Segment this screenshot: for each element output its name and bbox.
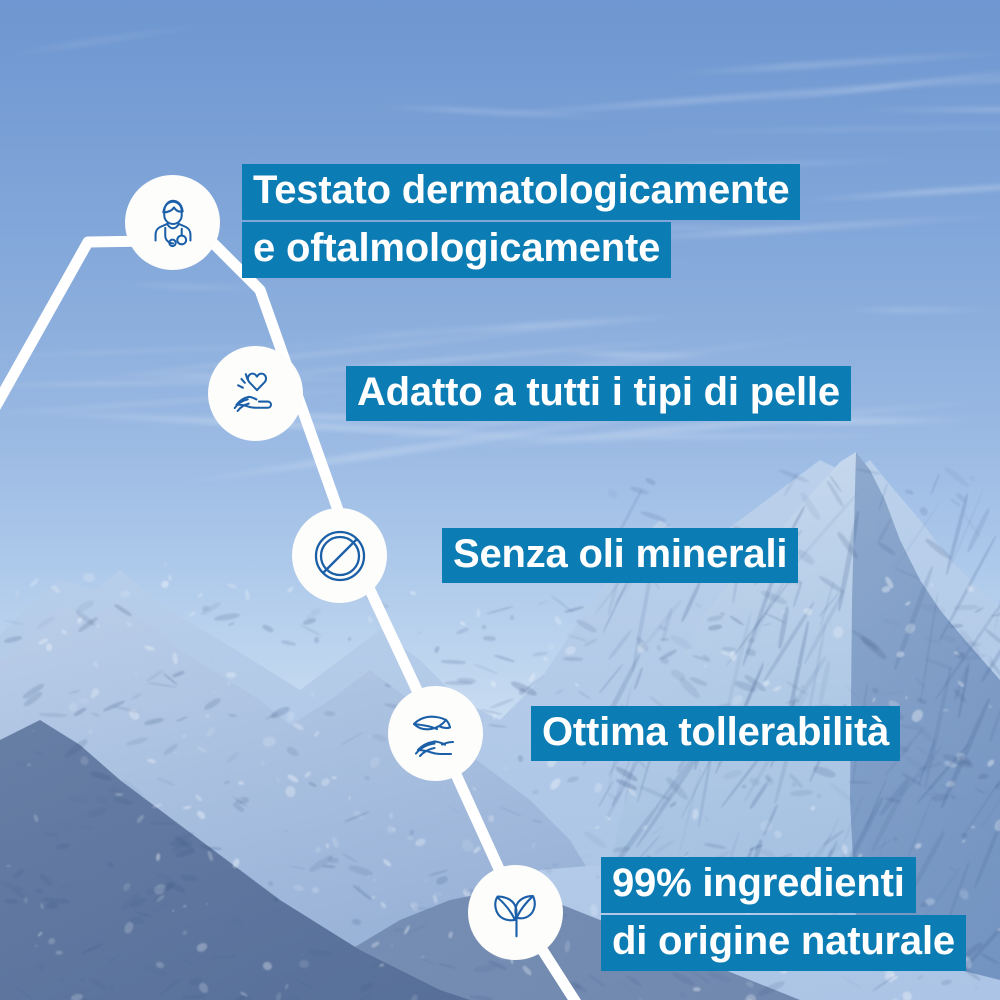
- doctor-stethoscope-icon: [125, 175, 220, 270]
- feature-label-line: Adatto a tutti i tipi di pelle: [346, 366, 851, 422]
- feature-row-dermatologically-tested: Testato dermatologicamente e oftalmologi…: [125, 168, 800, 278]
- feature-labels: Testato dermatologicamente e oftalmologi…: [242, 164, 800, 278]
- feature-row-no-mineral-oils: Senza oli minerali: [292, 508, 798, 603]
- feature-labels: Ottima tollerabilità: [531, 706, 900, 762]
- leaf-plant-icon: [468, 865, 563, 960]
- feature-label-line: Ottima tollerabilità: [531, 706, 900, 762]
- hand-heart-icon: [208, 346, 303, 441]
- feature-labels: Adatto a tutti i tipi di pelle: [346, 366, 851, 422]
- feature-label-line: Senza oli minerali: [442, 528, 798, 584]
- feature-label-line: Testato dermatologicamente: [242, 164, 800, 220]
- feature-row-all-skin-types: Adatto a tutti i tipi di pelle: [208, 346, 851, 441]
- feature-label-line: e oftalmologicamente: [242, 222, 671, 278]
- feature-labels: 99% ingredienti di origine naturale: [601, 857, 966, 971]
- feature-label-line: di origine naturale: [601, 915, 966, 971]
- feature-label-line: 99% ingredienti: [601, 857, 916, 913]
- no-oil-prohibition-icon: [292, 508, 387, 603]
- product-benefits-poster: Testato dermatologicamente e oftalmologi…: [0, 0, 1000, 1000]
- feature-labels: Senza oli minerali: [442, 528, 798, 584]
- feature-row-excellent-tolerability: Ottima tollerabilità: [388, 686, 900, 781]
- feature-row-natural-origin-ingredients: 99% ingredienti di origine naturale: [468, 855, 966, 971]
- feather-hand-icon: [388, 686, 483, 781]
- connector-path: [0, 0, 1000, 1000]
